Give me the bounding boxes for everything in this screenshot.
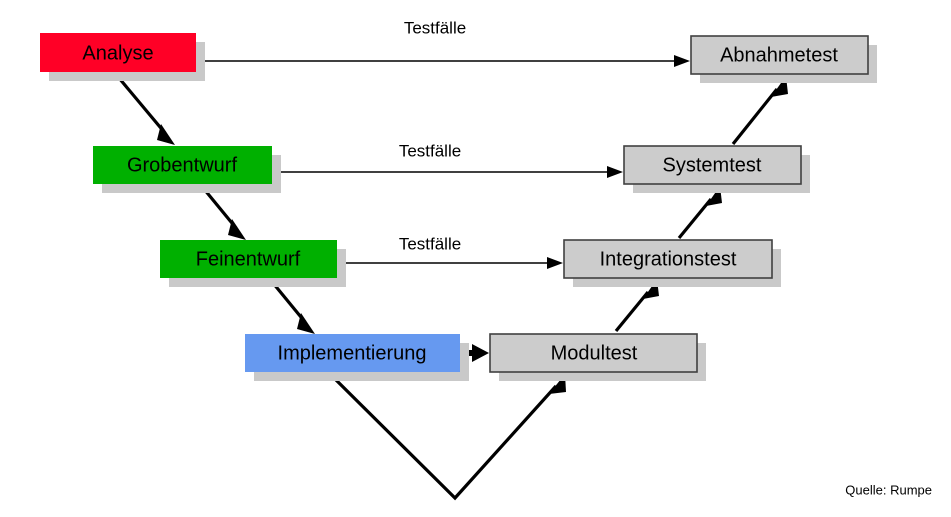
source-note: Quelle: Rumpe	[845, 482, 932, 497]
node-implementierung[interactable]: Implementierung	[245, 334, 469, 381]
left-nodes: Analyse Grobentwurf Feinentwurf Implemen…	[40, 33, 469, 381]
arrow-head-icon	[607, 166, 623, 178]
node-label: Abnahmetest	[720, 44, 838, 66]
edge-analyse-grobentwurf	[119, 78, 175, 145]
edge-line	[330, 374, 556, 498]
edge-implementierung-modultest-v	[330, 374, 566, 498]
right-nodes: Abnahmetest Systemtest Integrationstest …	[490, 36, 877, 381]
node-analyse[interactable]: Analyse	[40, 33, 205, 81]
arrow-head-icon	[674, 55, 690, 67]
edge-line	[273, 283, 305, 322]
edge-feinentwurf-integrationstest	[341, 257, 563, 269]
edge-line	[733, 89, 777, 144]
node-label: Modultest	[551, 342, 638, 364]
edge-line	[119, 78, 165, 133]
vmodel-diagram: Analyse Grobentwurf Feinentwurf Implemen…	[0, 0, 951, 517]
edge-line	[616, 292, 648, 331]
edge-grobentwurf-systemtest	[277, 166, 623, 178]
edge-label-testfaelle-3: Testfälle	[399, 234, 461, 253]
edge-grobentwurf-feinentwurf	[204, 189, 246, 240]
node-label: Feinentwurf	[196, 248, 301, 270]
edge-analyse-abnahmetest	[203, 55, 690, 67]
edge-label-testfaelle-2: Testfälle	[399, 141, 461, 160]
edge-integrationstest-systemtest	[679, 186, 722, 238]
node-label: Systemtest	[663, 154, 762, 176]
node-systemtest[interactable]: Systemtest	[624, 146, 810, 193]
node-label: Grobentwurf	[127, 154, 237, 176]
edge-line	[679, 199, 711, 238]
vmodel-canvas: Analyse Grobentwurf Feinentwurf Implemen…	[0, 0, 951, 517]
horizontal-edges	[203, 55, 690, 362]
node-grobentwurf[interactable]: Grobentwurf	[93, 146, 281, 193]
arrow-head-icon	[547, 257, 563, 269]
edge-labels: Testfälle Testfälle Testfälle	[399, 18, 466, 253]
ascent-edges	[616, 76, 788, 331]
edge-systemtest-abnahmetest	[733, 76, 788, 144]
node-label: Analyse	[82, 42, 153, 64]
node-feinentwurf[interactable]: Feinentwurf	[160, 240, 346, 287]
node-modultest[interactable]: Modultest	[490, 334, 706, 381]
node-integrationstest[interactable]: Integrationstest	[564, 240, 781, 287]
node-label: Integrationstest	[600, 248, 737, 270]
node-label: Implementierung	[278, 342, 427, 364]
edge-line	[204, 189, 236, 228]
node-abnahmetest[interactable]: Abnahmetest	[691, 36, 877, 83]
edge-feinentwurf-implementierung	[273, 283, 315, 334]
descent-edges	[119, 78, 315, 334]
arrow-head-icon	[472, 344, 489, 362]
edge-label-testfaelle-1: Testfälle	[404, 18, 466, 37]
